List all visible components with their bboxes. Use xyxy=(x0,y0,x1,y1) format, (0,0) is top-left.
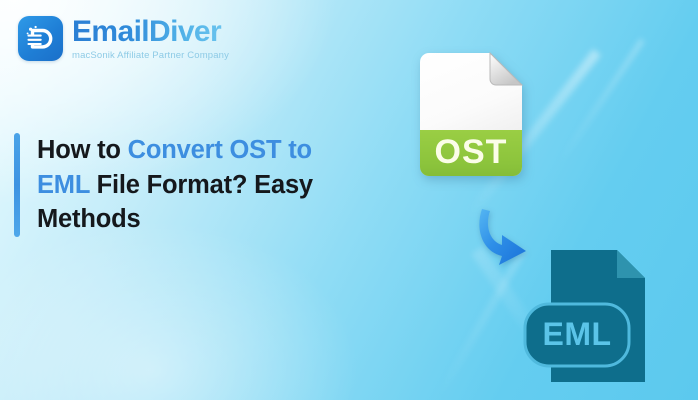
blog-banner: EmailDiver macSonik Affiliate Partner Co… xyxy=(0,0,698,400)
headline-block: How to Convert OST to EML File Format? E… xyxy=(14,133,364,237)
light-streak xyxy=(435,248,526,399)
page-title: How to Convert OST to EML File Format? E… xyxy=(37,133,364,237)
accent-bar xyxy=(14,133,20,237)
brand-wordmark: EmailDiver xyxy=(72,17,229,47)
brand-tagline: macSonik Affiliate Partner Company xyxy=(72,51,229,61)
eml-file-label: EML xyxy=(542,316,611,352)
emaildiver-d-mark-icon xyxy=(18,16,63,61)
background-glow xyxy=(0,220,360,400)
headline-segment: How to xyxy=(37,136,128,164)
brand-logo-text: EmailDiver macSonik Affiliate Partner Co… xyxy=(72,17,229,61)
brand-logo[interactable]: EmailDiver macSonik Affiliate Partner Co… xyxy=(18,16,229,61)
eml-file-icon: EML xyxy=(521,246,657,386)
ost-file-label: OST xyxy=(435,133,508,171)
ost-file-icon: OST xyxy=(412,52,530,185)
light-streak xyxy=(557,39,645,166)
